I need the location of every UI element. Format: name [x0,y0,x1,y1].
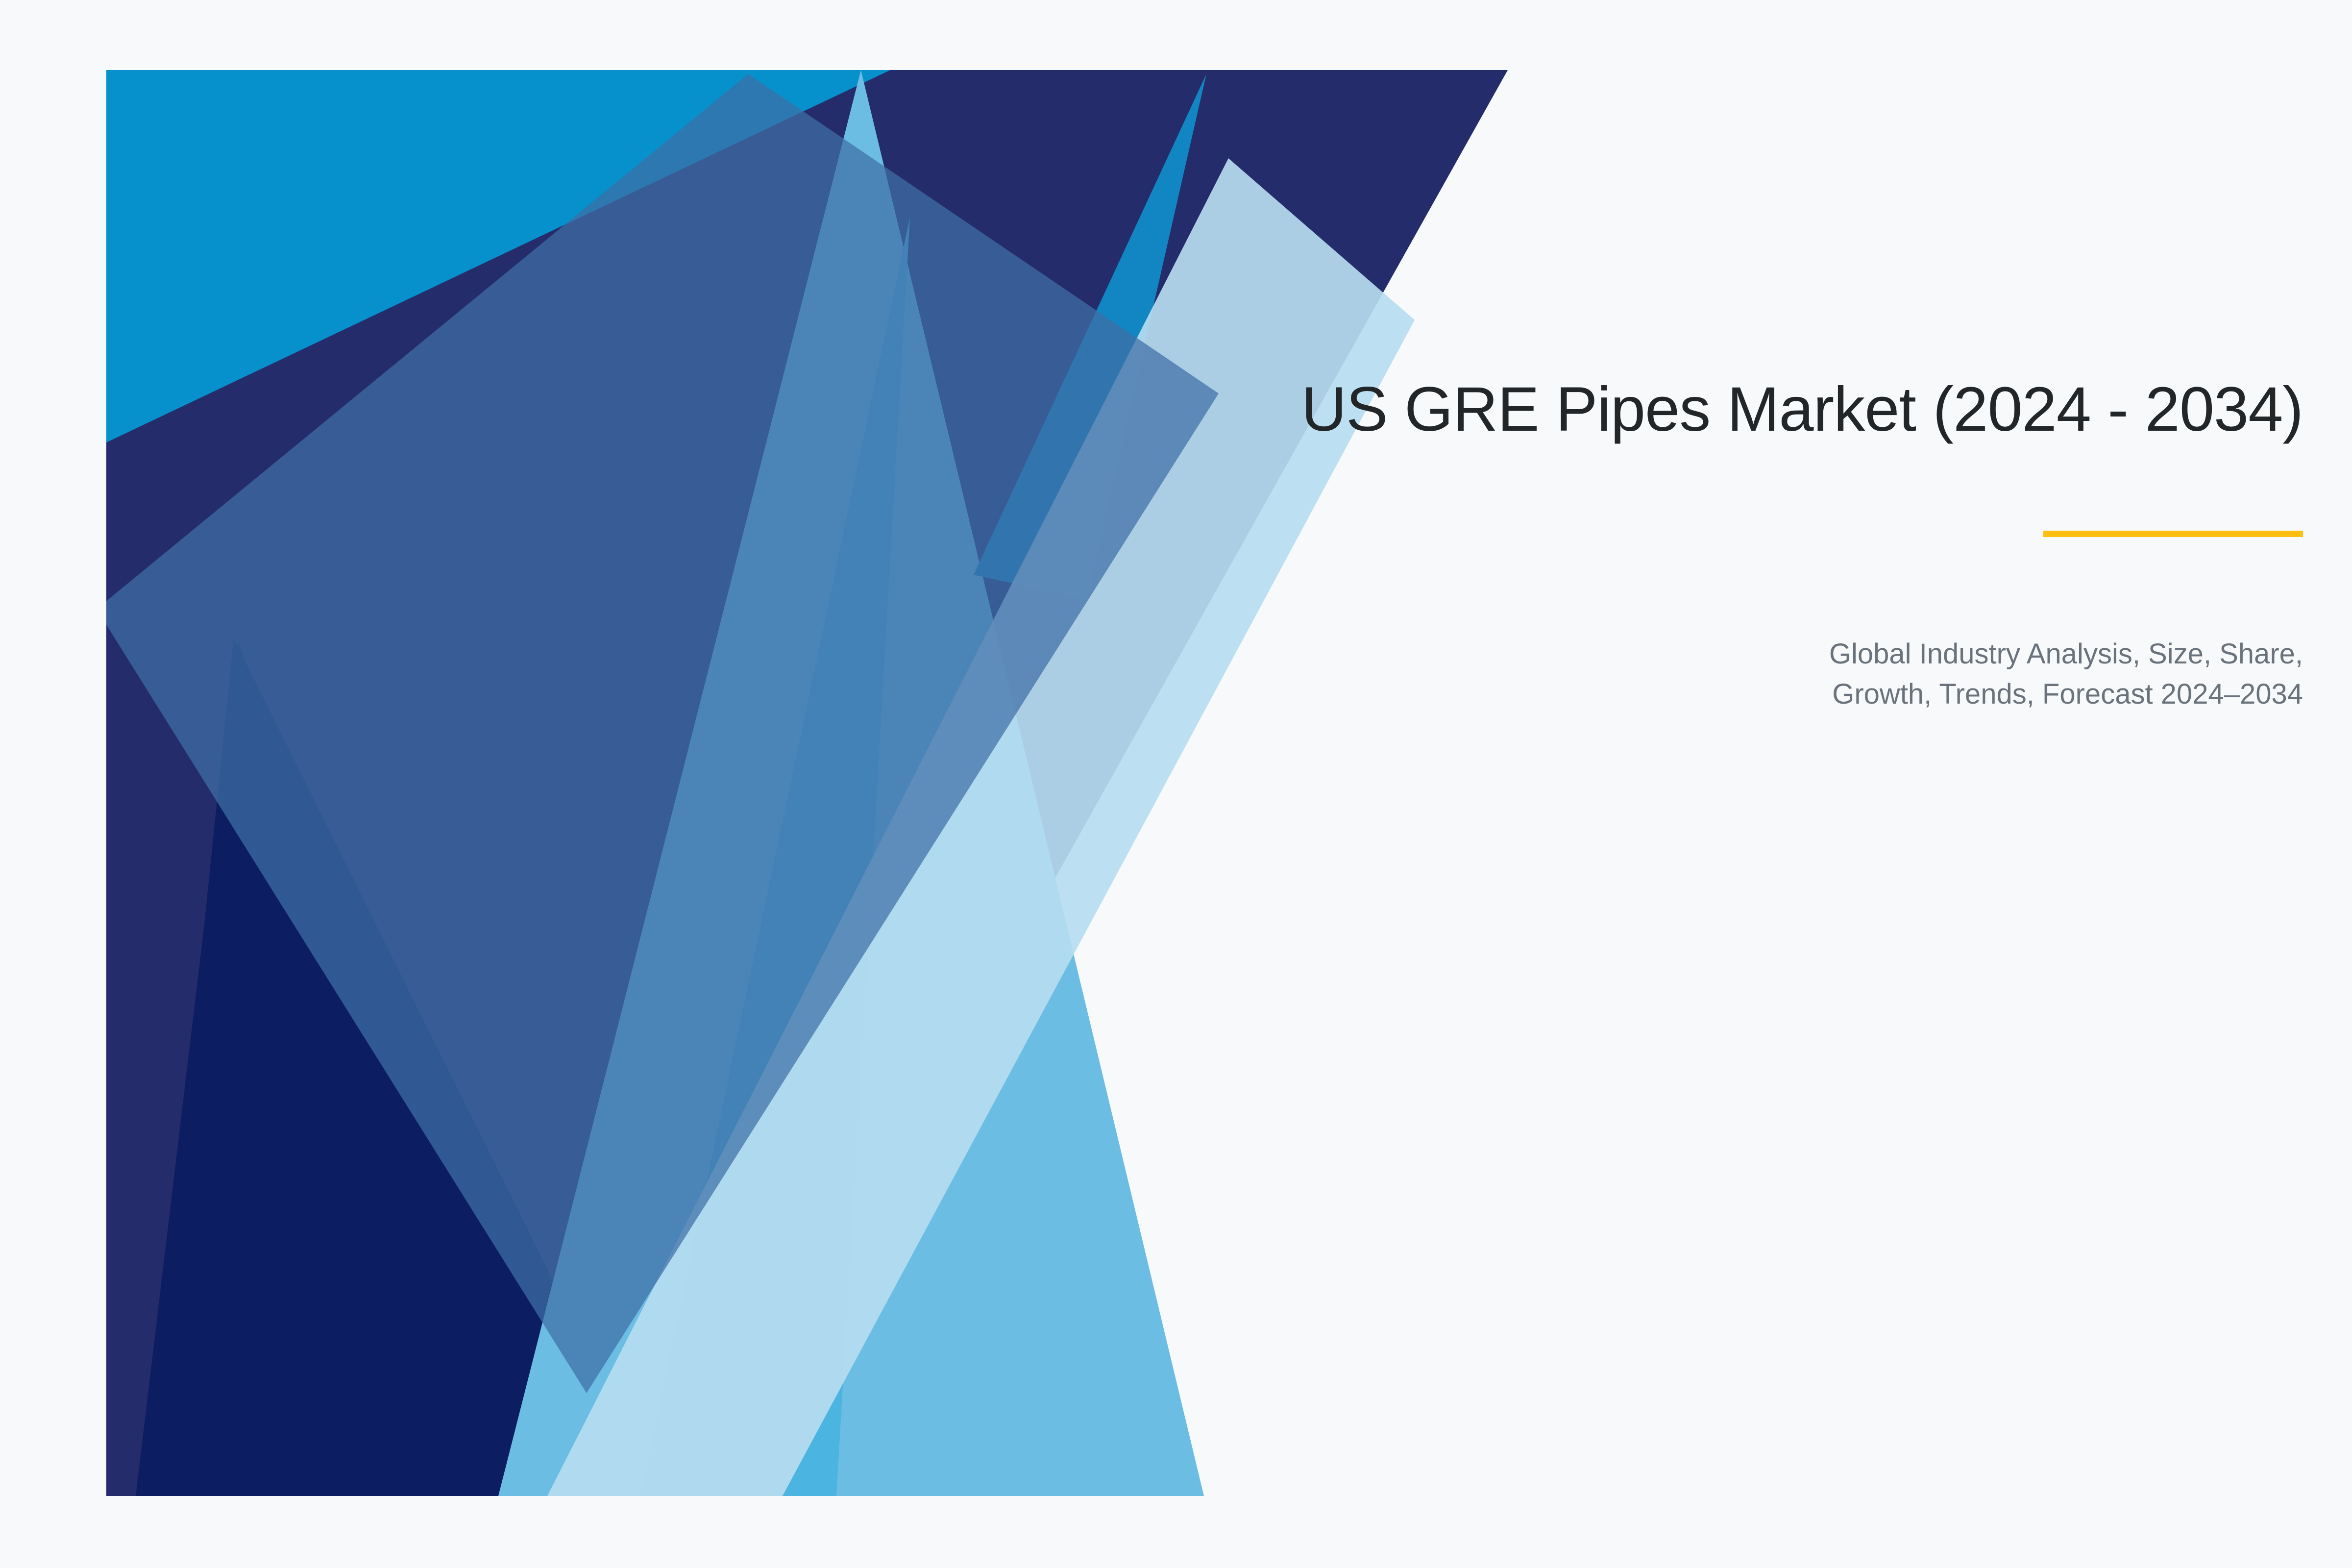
accent-rule-container [931,531,2303,537]
slide-root: US GRE Pipes Market (2024 - 2034) Global… [0,0,2352,1568]
page-subtitle-line-1: Global Industry Analysis, Size, Share, [931,634,2303,674]
page-subtitle: Global Industry Analysis, Size, Share, G… [931,634,2303,715]
accent-rule [2043,531,2303,537]
page-title: US GRE Pipes Market (2024 - 2034) [931,372,2303,446]
title-text-block: US GRE Pipes Market (2024 - 2034) Global… [931,372,2303,715]
cover-artwork [106,70,1508,1496]
cover-artwork-svg [106,70,1508,1496]
page-subtitle-line-2: Growth, Trends, Forecast 2024–2034 [931,674,2303,714]
